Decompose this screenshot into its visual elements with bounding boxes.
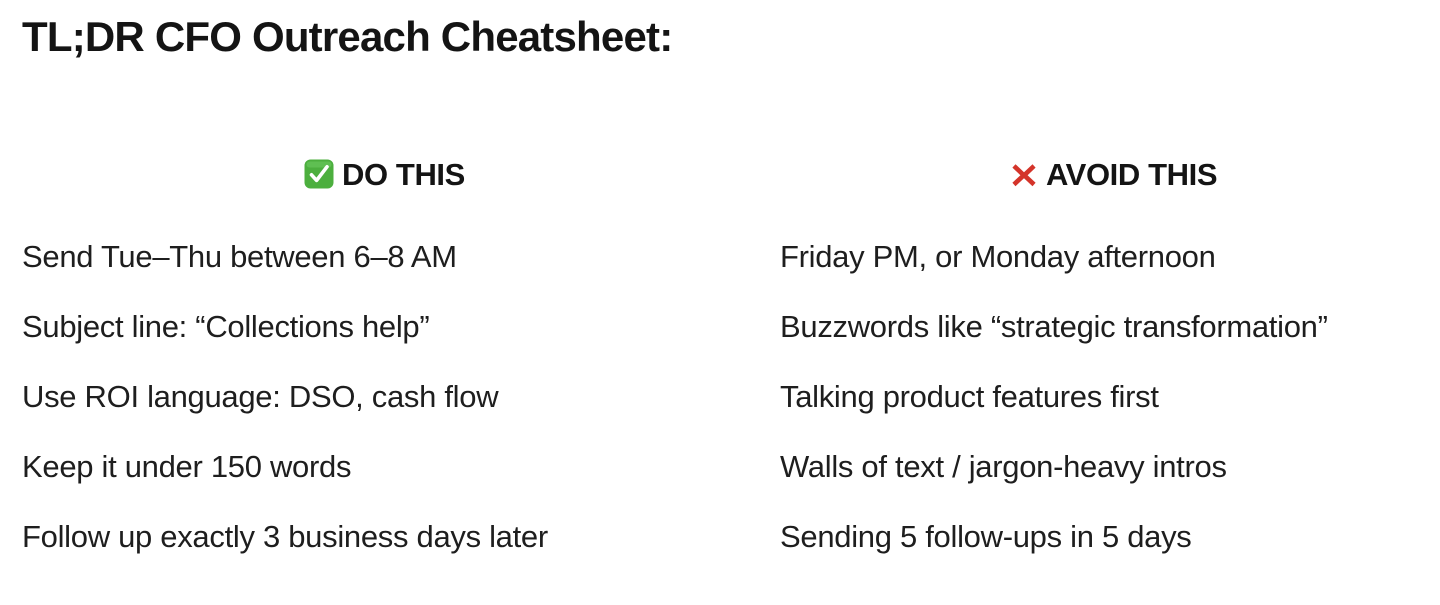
list-item: Subject line: “Collections help”: [22, 291, 754, 361]
list-item: Sending 5 follow-ups in 5 days: [780, 501, 1440, 571]
list-item: Keep it under 150 words: [22, 431, 754, 501]
cheatsheet-page: TL;DR CFO Outreach Cheatsheet: DO THIS S…: [0, 0, 1440, 605]
list-item: Send Tue–Thu between 6–8 AM: [22, 221, 754, 291]
avoid-list: Friday PM, or Monday afternoon Buzzwords…: [780, 221, 1440, 571]
list-item: Walls of text / jargon-heavy intros: [780, 431, 1440, 501]
page-title: TL;DR CFO Outreach Cheatsheet:: [22, 13, 672, 61]
do-column-header: DO THIS: [303, 150, 754, 198]
comparison-columns: DO THIS Send Tue–Thu between 6–8 AM Subj…: [0, 150, 1440, 590]
avoid-column-label: AVOID THIS: [1046, 159, 1217, 190]
list-item: Buzzwords like “strategic transformation…: [780, 291, 1440, 361]
white-check-mark-icon: [303, 158, 335, 190]
do-column: DO THIS Send Tue–Thu between 6–8 AM Subj…: [0, 150, 754, 590]
list-item: Friday PM, or Monday afternoon: [780, 221, 1440, 291]
avoid-column-header: AVOID THIS: [1008, 150, 1440, 198]
cross-mark-icon: [1008, 158, 1040, 190]
do-column-label: DO THIS: [342, 159, 465, 190]
list-item: Talking product features first: [780, 361, 1440, 431]
do-list: Send Tue–Thu between 6–8 AM Subject line…: [22, 221, 754, 571]
list-item: Use ROI language: DSO, cash flow: [22, 361, 754, 431]
list-item: Follow up exactly 3 business days later: [22, 501, 754, 571]
avoid-column: AVOID THIS Friday PM, or Monday afternoo…: [754, 150, 1440, 590]
